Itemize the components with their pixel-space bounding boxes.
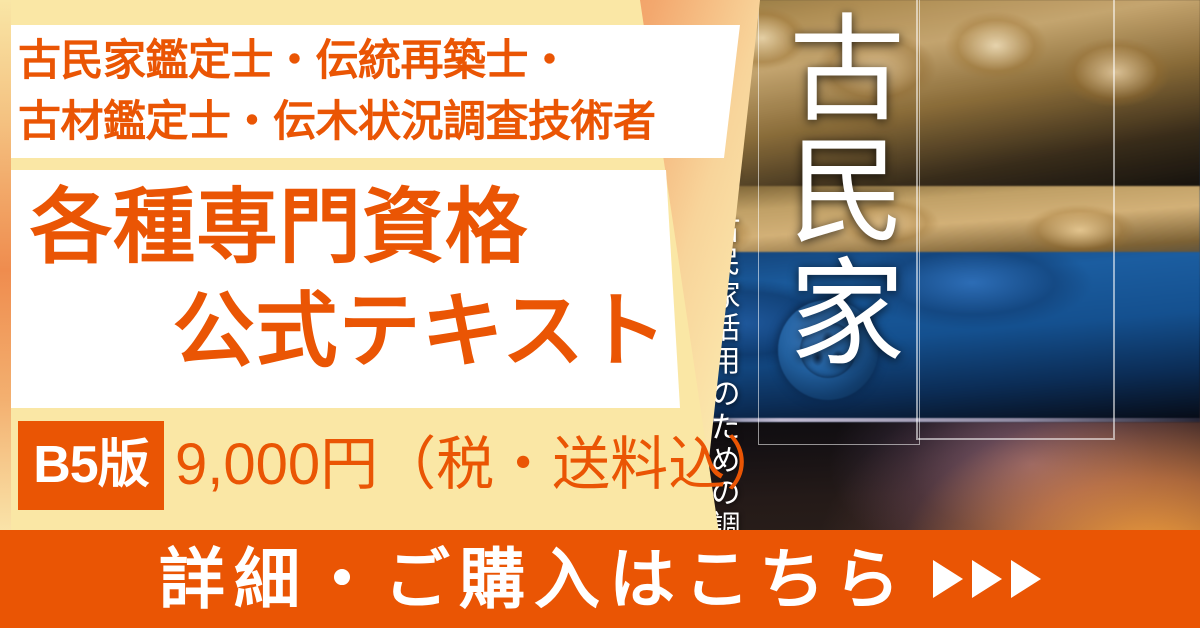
qualifications-line-2: 古材鑑定士・伝木状況調査技術者 <box>18 92 730 153</box>
qualifications-line-1: 古民家鑑定士・伝統再築士・ <box>18 31 730 92</box>
left-edge-accent-strip <box>0 0 11 540</box>
qualifications-text: 古民家鑑定士・伝統再築士・ 古材鑑定士・伝木状況調査技術者 <box>18 31 730 153</box>
cta-arrow-group <box>933 560 1041 598</box>
price-text: 9,000円（税・送料込） <box>175 424 784 506</box>
headline-line-2: 公式テキスト <box>20 280 680 384</box>
chevron-right-icon <box>972 560 1002 598</box>
book-cover-title: 古民家 <box>775 8 903 374</box>
promotional-banner: 古民家 伝統構法 古民家活用のための調査と再生の 古民家鑑定士・伝統再築士・ 古… <box>0 0 1200 628</box>
headline-line-1: 各種専門資格 <box>20 176 680 280</box>
chevron-right-icon <box>933 560 963 598</box>
chevron-right-icon <box>1011 560 1041 598</box>
cta-label: 詳細・ご購入はこちら <box>159 546 909 612</box>
page-title: 各種専門資格 公式テキスト <box>20 176 680 384</box>
cover-frame-line <box>916 0 1115 440</box>
format-badge: B5版 <box>18 421 164 510</box>
cta-button[interactable]: 詳細・ご購入はこちら <box>0 530 1200 628</box>
